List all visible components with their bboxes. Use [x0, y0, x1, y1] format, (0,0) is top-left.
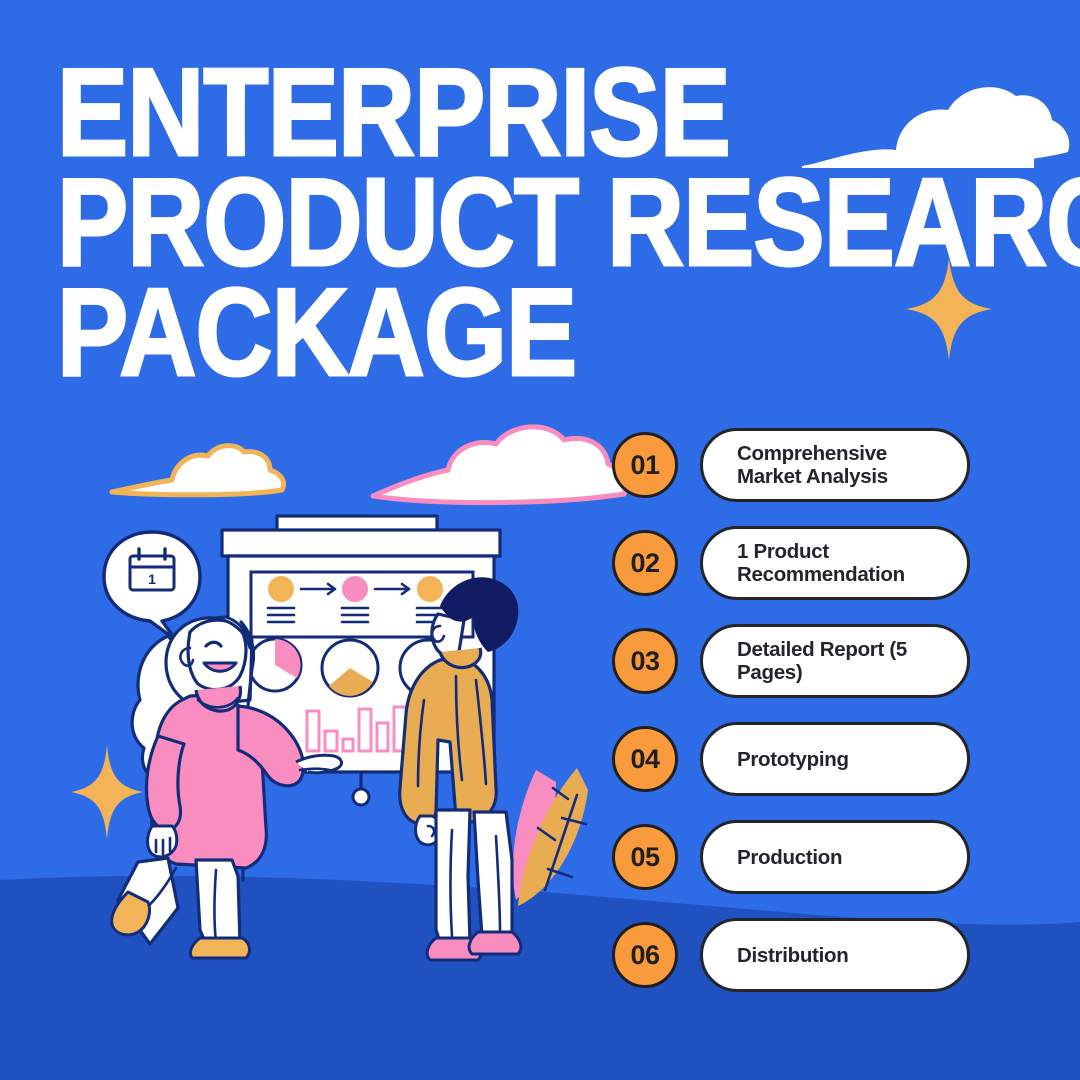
list-item[interactable]: 04 Prototyping	[612, 722, 1012, 799]
list-item-pill[interactable]: Detailed Report (5 Pages)	[700, 624, 970, 698]
list-item-pill[interactable]: Distribution	[700, 918, 970, 992]
package-features-list: 01 Comprehensive Market Analysis 02 1 Pr…	[612, 428, 1012, 1016]
list-item[interactable]: 03 Detailed Report (5 Pages)	[612, 624, 1012, 701]
list-item-label: 1 Product Recommendation	[737, 540, 951, 586]
list-item-pill[interactable]: Prototyping	[700, 722, 970, 796]
poster-canvas: .ln{fill:none;stroke:#132C7A;stroke-widt…	[0, 0, 1080, 1080]
title-line-2: PRODUCT RESEARCH	[57, 168, 814, 278]
list-item-number-badge: 02	[612, 530, 678, 596]
list-item[interactable]: 02 1 Product Recommendation	[612, 526, 1012, 603]
list-item-pill[interactable]: 1 Product Recommendation	[700, 526, 970, 600]
list-item[interactable]: 05 Production	[612, 820, 1012, 897]
list-item[interactable]: 06 Distribution	[612, 918, 1012, 995]
list-item-label: Production	[737, 846, 842, 869]
list-item-number-badge: 03	[612, 628, 678, 694]
list-item-number-badge: 06	[612, 922, 678, 988]
list-item-label: Distribution	[737, 944, 848, 967]
list-item-pill[interactable]: Comprehensive Market Analysis	[700, 428, 970, 502]
list-item-label: Prototyping	[737, 748, 849, 771]
list-item-number-badge: 04	[612, 726, 678, 792]
list-item-label: Comprehensive Market Analysis	[737, 442, 951, 488]
list-item-number-badge: 01	[612, 432, 678, 498]
list-item-label: Detailed Report (5 Pages)	[737, 638, 951, 684]
list-item-pill[interactable]: Production	[700, 820, 970, 894]
list-item-number-badge: 05	[612, 824, 678, 890]
title-line-1: ENTERPRISE	[57, 58, 814, 168]
title-line-3: PACKAGE	[57, 278, 814, 388]
list-item[interactable]: 01 Comprehensive Market Analysis	[612, 428, 1012, 505]
page-title: ENTERPRISE PRODUCT RESEARCH PACKAGE	[57, 58, 937, 388]
